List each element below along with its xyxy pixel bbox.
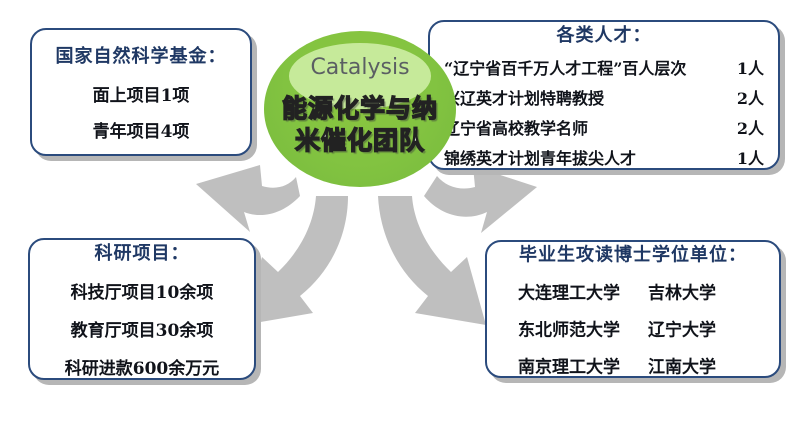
center-latin-label: Catalysis	[264, 55, 456, 80]
box-projects-line-2: 教育厅项目30余项	[40, 316, 244, 341]
talent-name: 兴辽英才计划特聘教授	[444, 85, 604, 109]
box-projects-line-1: 科技厅项目10余项	[40, 278, 244, 303]
phd-university-right: 吉林大学	[648, 279, 748, 304]
arrow-to-projects	[243, 196, 348, 325]
box-funding-line-2: 青年项目4项	[42, 117, 240, 142]
box-projects-title: 科研项目：	[40, 239, 244, 265]
talent-name: 辽宁省高校教学名师	[444, 115, 588, 139]
box-funding-title: 国家自然科学基金：	[42, 42, 240, 68]
talent-row: “辽宁省百千万人才工程”百人层次 1人	[440, 55, 768, 79]
box-national-science-fund[interactable]: 国家自然科学基金： 面上项目1项 青年项目4项	[30, 28, 252, 156]
diagram-canvas: 国家自然科学基金： 面上项目1项 青年项目4项 各类人才： “辽宁省百千万人才工…	[0, 0, 797, 433]
phd-university-left: 东北师范大学	[518, 316, 648, 341]
talent-row: 锦绣英才计划青年拔尖人才 1人	[440, 145, 768, 169]
talent-count: 2人	[737, 115, 764, 139]
arrow-to-funding	[196, 165, 300, 232]
box-talents[interactable]: 各类人才： “辽宁省百千万人才工程”百人层次 1人 兴辽英才计划特聘教授 2人 …	[428, 20, 780, 170]
center-node-catalysis-team[interactable]: Catalysis 能源化学与纳 米催化团队	[264, 31, 456, 187]
talent-name: “辽宁省百千万人才工程”百人层次	[444, 55, 686, 79]
talent-name: 锦绣英才计划青年拔尖人才	[444, 145, 636, 169]
arrow-to-talents	[424, 166, 537, 233]
center-cn-label: 能源化学与纳 米催化团队	[264, 93, 456, 157]
center-cn-line-2: 米催化团队	[264, 125, 456, 157]
talent-row: 兴辽英才计划特聘教授 2人	[440, 85, 768, 109]
phd-row: 南京理工大学 江南大学	[497, 353, 769, 378]
phd-row: 东北师范大学 辽宁大学	[497, 316, 769, 341]
phd-university-right: 江南大学	[648, 353, 748, 378]
box-phd-destinations[interactable]: 毕业生攻读博士学位单位： 大连理工大学 吉林大学 东北师范大学 辽宁大学 南京理…	[485, 240, 781, 378]
phd-university-right: 辽宁大学	[648, 316, 748, 341]
box-projects-line-3: 科研进款600余万元	[40, 354, 244, 379]
phd-university-left: 大连理工大学	[518, 279, 648, 304]
box-talents-title: 各类人才：	[440, 21, 768, 47]
phd-university-left: 南京理工大学	[518, 353, 648, 378]
box-phd-title: 毕业生攻读博士学位单位：	[497, 241, 769, 267]
talent-row: 辽宁省高校教学名师 2人	[440, 115, 768, 139]
center-cn-line-1: 能源化学与纳	[264, 93, 456, 125]
talent-count: 1人	[737, 145, 764, 169]
talent-count: 1人	[737, 55, 764, 79]
phd-row: 大连理工大学 吉林大学	[497, 279, 769, 304]
talent-count: 2人	[737, 85, 764, 109]
box-research-projects[interactable]: 科研项目： 科技厅项目10余项 教育厅项目30余项 科研进款600余万元	[28, 238, 256, 380]
box-funding-line-1: 面上项目1项	[42, 81, 240, 106]
